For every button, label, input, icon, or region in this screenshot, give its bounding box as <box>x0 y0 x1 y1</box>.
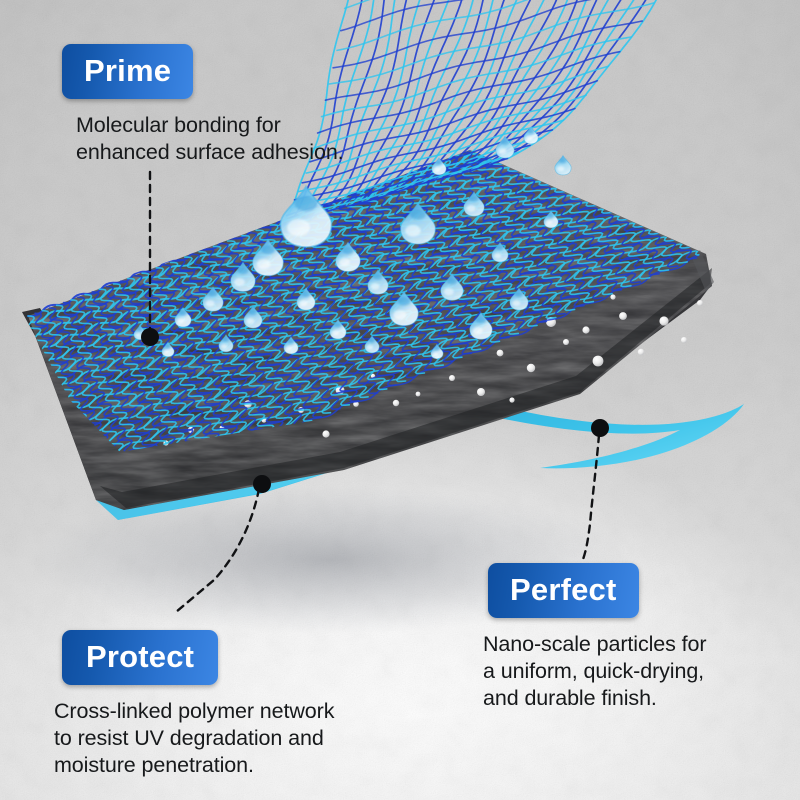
water-droplet <box>555 156 571 175</box>
marker-perfect <box>591 419 609 437</box>
callout-perfect: Perfect Nano-scale particles for a unifo… <box>488 563 706 712</box>
callout-protect: Protect Cross-linked polymer network to … <box>62 630 334 779</box>
water-droplet <box>281 187 332 248</box>
badge-protect[interactable]: Protect <box>62 630 218 685</box>
badge-prime[interactable]: Prime <box>62 44 193 99</box>
infographic-canvas: Prime Molecular bonding for enhanced sur… <box>0 0 800 800</box>
description-perfect: Nano-scale particles for a uniform, quic… <box>483 631 706 712</box>
description-prime: Molecular bonding for enhanced surface a… <box>76 112 344 166</box>
marker-protect <box>253 475 271 493</box>
callout-prime: Prime Molecular bonding for enhanced sur… <box>62 44 344 166</box>
badge-perfect[interactable]: Perfect <box>488 563 639 618</box>
marker-prime <box>141 328 159 346</box>
description-protect: Cross-linked polymer network to resist U… <box>54 698 334 779</box>
